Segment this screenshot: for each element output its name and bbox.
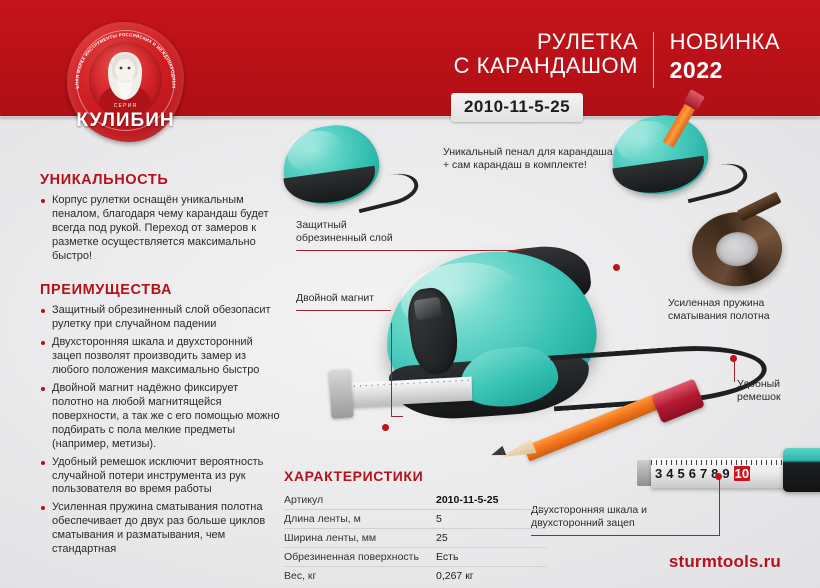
tape-shell-base xyxy=(283,166,378,209)
website-url[interactable]: sturmtools.ru xyxy=(669,552,781,572)
list-item: Удобный ремешок исключит вероятность слу… xyxy=(40,456,280,498)
callout-anchor-dot xyxy=(382,424,389,431)
tape-hook-magnet xyxy=(328,369,353,418)
callout-reinforced-spring: Усиленная пружина сматывания полотна xyxy=(668,297,818,323)
tape-blade xyxy=(342,377,473,408)
blade-hook xyxy=(637,460,655,486)
callout-underline xyxy=(296,250,521,251)
callout-double-scale: Двухсторонняя шкала и двухсторонний заце… xyxy=(531,504,711,536)
spec-value: 25 xyxy=(436,529,546,548)
spec-value: 0,267 кг xyxy=(436,567,546,586)
connector-line xyxy=(391,416,403,417)
tape-measure-photo-left xyxy=(283,118,399,210)
tape-shell xyxy=(278,120,384,211)
blade-number: 5 xyxy=(677,466,684,481)
tape-side-grip xyxy=(457,343,561,411)
uniqueness-bullet-list: Корпус рулетки оснащён уникальным пенало… xyxy=(40,194,280,264)
blade-case-end xyxy=(783,448,820,492)
tape-brake-button xyxy=(404,285,462,377)
seal-brand-name: КУЛИБИН xyxy=(63,110,188,132)
blade-surface xyxy=(651,458,791,488)
list-item: Корпус рулетки оснащён уникальным пенало… xyxy=(40,194,280,264)
list-item: Усиленная пружина сматывания полотна обе… xyxy=(40,501,280,557)
blade-number: 4 xyxy=(666,466,673,481)
product-infographic-page: РУЛЕТКА С КАРАНДАШОМ НОВИНКА 2022 2010-1… xyxy=(0,0,820,588)
table-row: Длина ленты, м 5 xyxy=(284,510,546,529)
novelty-year: 2022 xyxy=(670,57,780,84)
table-row: Обрезиненная поверхность Есть xyxy=(284,548,546,567)
blade-number: 9 xyxy=(722,466,729,481)
spec-title: ХАРАКТЕРИСТИКИ xyxy=(284,468,546,484)
callout-anchor-dot xyxy=(715,473,722,480)
features-column: УНИКАЛЬНОСТЬ Корпус рулетки оснащён уник… xyxy=(40,172,280,561)
tape-measure-photo-right xyxy=(612,108,728,204)
title-line-2: С КАРАНДАШОМ xyxy=(454,54,638,78)
spec-value: Есть xyxy=(436,548,546,567)
pencil-lead-tip xyxy=(490,446,507,461)
callout-text: Защитный обрезиненный слой xyxy=(296,219,418,245)
table-row: Ширина ленты, мм 25 xyxy=(284,529,546,548)
sku-badge: 2010-11-5-25 xyxy=(451,93,583,122)
spec-table: Артикул 2010-11-5-25 Длина ленты, м 5 Ши… xyxy=(284,491,546,585)
spring-coil-photo xyxy=(689,203,791,293)
coil-tail xyxy=(737,192,782,222)
spec-key: Обрезиненная поверхность xyxy=(284,548,436,567)
blade-numbers: 3 4 5 6 7 8 9 10 xyxy=(655,464,795,482)
header-divider xyxy=(653,32,654,88)
title-line-1: РУЛЕТКА xyxy=(454,30,638,54)
novelty-block: НОВИНКА 2022 xyxy=(670,30,780,84)
list-item: Двойной магнит надёжно фиксирует полотно… xyxy=(40,382,280,452)
callout-anchor-dot xyxy=(730,355,737,362)
tape-shell-base xyxy=(612,156,707,199)
table-row: Вес, кг 0,267 кг xyxy=(284,567,546,586)
list-item: Двухсторонняя шкала и двухсторонний заце… xyxy=(40,336,280,378)
specifications-block: ХАРАКТЕРИСТИКИ Артикул 2010-11-5-25 Длин… xyxy=(284,468,546,585)
tape-shell xyxy=(607,110,713,201)
tape-strap xyxy=(352,169,421,214)
spec-key: Ширина ленты, мм xyxy=(284,529,436,548)
callout-double-magnet: Двойной магнит xyxy=(296,292,396,311)
callout-comfortable-strap: Удобный ремешок xyxy=(737,378,817,404)
pencil-sharpened-wood xyxy=(499,438,537,466)
section-title-uniqueness: УНИКАЛЬНОСТЬ xyxy=(40,172,280,188)
connector-line xyxy=(734,360,735,382)
callout-text: Уникальный пенал для карандаша + сам кар… xyxy=(443,146,613,172)
tape-blade-closeup-photo: 3 4 5 6 7 8 9 10 xyxy=(637,452,820,494)
tape-body xyxy=(381,245,601,409)
main-tape-measure-photo xyxy=(352,252,602,442)
callout-text: Удобный ремешок xyxy=(737,378,817,404)
seal-series-label: СЕРИЯ xyxy=(63,103,188,109)
spec-key: Длина ленты, м xyxy=(284,510,436,529)
rubber-top-cover xyxy=(467,242,592,312)
coil-outer-ring xyxy=(690,209,785,289)
tape-strap xyxy=(681,159,750,204)
callout-underline xyxy=(296,310,391,311)
pencil-rubber-cap xyxy=(651,378,705,423)
blade-number-highlighted: 10 xyxy=(734,466,750,481)
blade-number: 3 xyxy=(655,466,662,481)
tape-wrist-strap xyxy=(550,341,768,412)
list-item: Защитный обрезиненный слой обезопасит ру… xyxy=(40,304,280,332)
tape-base xyxy=(388,353,591,423)
blade-number: 6 xyxy=(689,466,696,481)
pencil-body xyxy=(523,390,668,461)
spec-value: 5 xyxy=(436,510,546,529)
section-title-advantages: ПРЕИМУЩЕСТВА xyxy=(40,282,280,298)
callout-protective-layer: Защитный обрезиненный слой xyxy=(296,219,418,251)
product-title: РУЛЕТКА С КАРАНДАШОМ xyxy=(454,30,638,78)
pencil-photo xyxy=(505,392,715,466)
spec-key: Артикул xyxy=(284,491,436,510)
spec-key: Вес, кг xyxy=(284,567,436,586)
table-row: Артикул 2010-11-5-25 xyxy=(284,491,546,510)
novelty-label: НОВИНКА xyxy=(670,30,780,54)
connector-line xyxy=(719,478,720,536)
callout-text: Двойной магнит xyxy=(296,292,396,305)
connector-line xyxy=(391,323,392,416)
callout-pencil-case: Уникальный пенал для карандаша + сам кар… xyxy=(443,146,613,172)
kulibin-logo-seal: НАЦИОНАЛЬНАЯ МАРКА ИНСТРУМЕНТЫ РОССИЙСКИ… xyxy=(63,18,188,146)
callout-text: Двухсторонняя шкала и двухсторонний заце… xyxy=(531,504,711,530)
blade-tick-marks xyxy=(651,460,791,465)
spec-value: 2010-11-5-25 xyxy=(436,491,546,510)
blade-number: 7 xyxy=(700,466,707,481)
callout-text: Усиленная пружина сматывания полотна xyxy=(668,297,818,323)
callout-anchor-dot xyxy=(613,264,620,271)
coil-inner-hole xyxy=(715,231,759,268)
advantages-bullet-list: Защитный обрезиненный слой обезопасит ру… xyxy=(40,304,280,557)
callout-underline xyxy=(531,535,719,536)
